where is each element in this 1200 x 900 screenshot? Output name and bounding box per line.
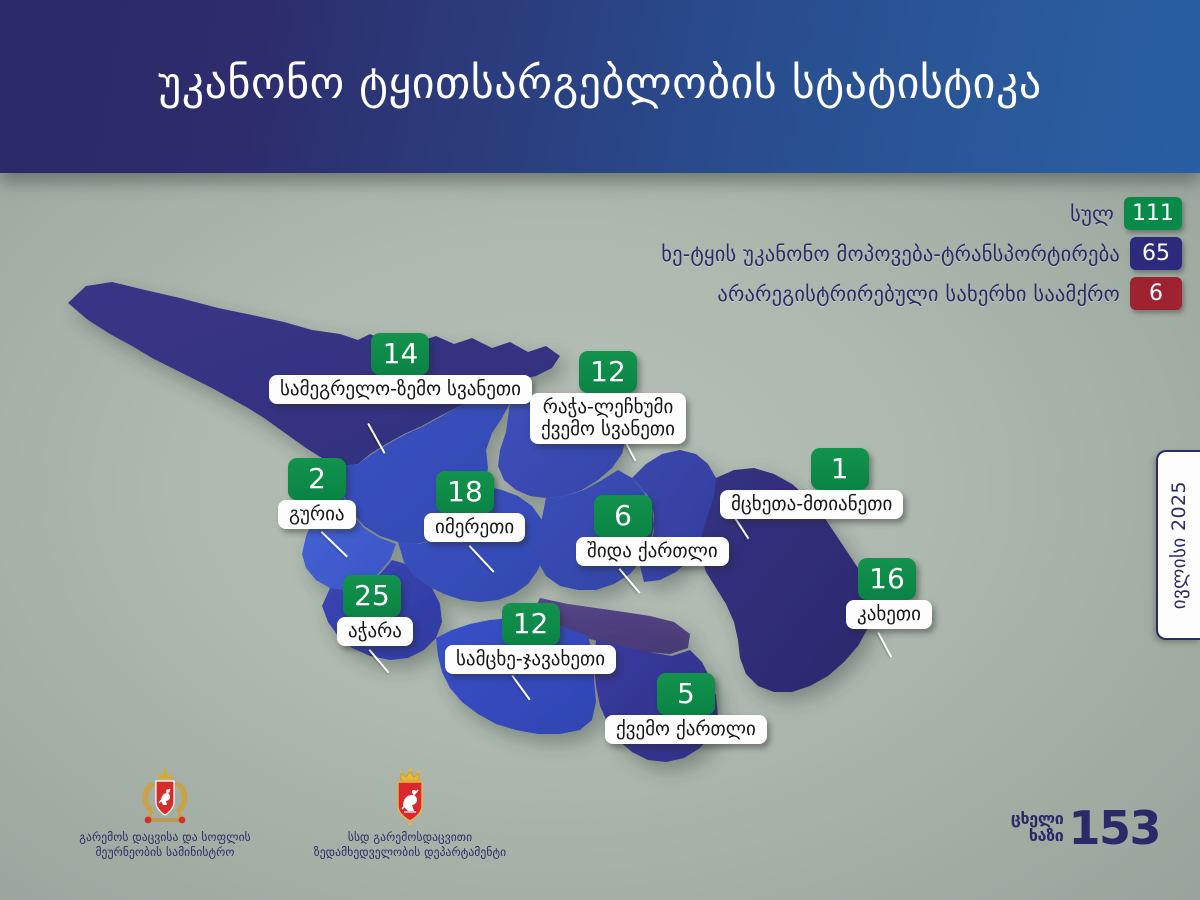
hotline-word-2: ხაზი: [1011, 828, 1064, 844]
callout-value-shida-kartli: 6: [594, 495, 652, 537]
hotline-number: 153: [1068, 808, 1160, 848]
callout-adjara[interactable]: 25 აჭარა: [337, 575, 413, 646]
legend-row-illegal-logging: ხე-ტყის უკანონო მოპოვება-ტრანსპორტირება …: [442, 237, 1182, 270]
hotline: ცხელი ხაზი 153: [1011, 808, 1160, 848]
legend-badge-total: 111: [1124, 197, 1182, 230]
callout-mtskheta-mtianeti[interactable]: 1 მცხეთა-მთიანეთი: [720, 448, 903, 519]
legend-label-illegal-logging: ხე-ტყის უკანონო მოპოვება-ტრანსპორტირება: [661, 242, 1120, 266]
callout-samtskhe-javakheti[interactable]: 12 სამცხე-ჯავახეთი: [445, 603, 616, 674]
callout-value-kakheti: 16: [858, 558, 916, 600]
callout-label-adjara: აჭარა: [337, 617, 413, 646]
legend-badge-illegal-logging: 65: [1130, 237, 1182, 270]
callout-label-mtskheta-mtianeti: მცხეთა-მთიანეთი: [720, 490, 903, 519]
callout-guria[interactable]: 2 გურია: [278, 458, 356, 529]
period-tab: ივლისი 2025: [1156, 450, 1200, 640]
org-ministry-caption: გარემოს დაცვისა და სოფლის მეურნეობის სამ…: [79, 830, 251, 860]
callout-value-adjara: 25: [343, 575, 401, 617]
callout-kvemo-kartli[interactable]: 5 ქვემო ქართლი: [605, 673, 767, 744]
callout-label-imereti: იმერეთი: [424, 513, 525, 542]
period-label: ივლისი 2025: [1168, 481, 1190, 609]
legend: სულ 111 ხე-ტყის უკანონო მოპოვება-ტრანსპო…: [442, 197, 1182, 310]
org-department: სსდ გარემოსდაცვითი ზედამხედველობის დეპარ…: [300, 768, 520, 860]
callout-value-samtskhe-javakheti: 12: [502, 603, 560, 645]
legend-row-total: სულ 111: [442, 197, 1182, 230]
department-emblem-icon: [389, 768, 431, 826]
page-header: უკანონო ტყითსარგებლობის სტატისტიკა: [0, 0, 1200, 173]
callout-samegrelo-zemo-svaneti[interactable]: 14 სამეგრელო-ზემო სვანეთი: [269, 333, 532, 404]
callout-value-racha-lechkhumi-kvemo-svaneti: 12: [579, 351, 637, 393]
callout-value-samegrelo-zemo-svaneti: 14: [371, 333, 429, 375]
callout-value-imereti: 18: [436, 471, 494, 513]
callout-kakheti[interactable]: 16 კახეთი: [846, 558, 932, 629]
georgia-coat-of-arms-icon: [137, 768, 193, 826]
callout-value-mtskheta-mtianeti: 1: [811, 448, 869, 490]
callout-value-kvemo-kartli: 5: [657, 673, 715, 715]
page-title: უკანონო ტყითსარგებლობის სტატისტიკა: [158, 58, 1042, 109]
legend-badge-unregistered-sawmill: 6: [1130, 277, 1182, 310]
page-footer: გარემოს დაცვისა და სოფლის მეურნეობის სამ…: [0, 770, 1200, 900]
callout-racha-lechkhumi-kvemo-svaneti[interactable]: 12 რაჭა-ლეჩხუმიქვემო სვანეთი: [527, 351, 689, 444]
callout-label-shida-kartli: შიდა ქართლი: [576, 537, 729, 566]
callout-value-guria: 2: [288, 458, 346, 500]
org-department-caption: სსდ გარემოსდაცვითი ზედამხედველობის დეპარ…: [314, 830, 506, 860]
org-ministry: გარემოს დაცვისა და სოფლის მეურნეობის სამ…: [60, 768, 270, 860]
legend-label-total: სულ: [1070, 202, 1114, 226]
callout-label-guria: გურია: [278, 500, 356, 529]
callout-imereti[interactable]: 18 იმერეთი: [424, 471, 525, 542]
callout-label-samegrelo-zemo-svaneti: სამეგრელო-ზემო სვანეთი: [269, 375, 532, 404]
hotline-words: ცხელი ხაზი: [1011, 811, 1064, 844]
callout-label-samtskhe-javakheti: სამცხე-ჯავახეთი: [445, 645, 616, 674]
callout-label-kvemo-kartli: ქვემო ქართლი: [605, 715, 767, 744]
legend-label-unregistered-sawmill: არარეგისტრირებული სახერხი საამქრო: [717, 282, 1120, 306]
callout-shida-kartli[interactable]: 6 შიდა ქართლი: [576, 495, 729, 566]
callout-label-kakheti: კახეთი: [846, 600, 932, 629]
callout-label-racha-lechkhumi-kvemo-svaneti: რაჭა-ლეჩხუმიქვემო სვანეთი: [530, 393, 686, 444]
legend-row-unregistered-sawmill: არარეგისტრირებული სახერხი საამქრო 6: [442, 277, 1182, 310]
